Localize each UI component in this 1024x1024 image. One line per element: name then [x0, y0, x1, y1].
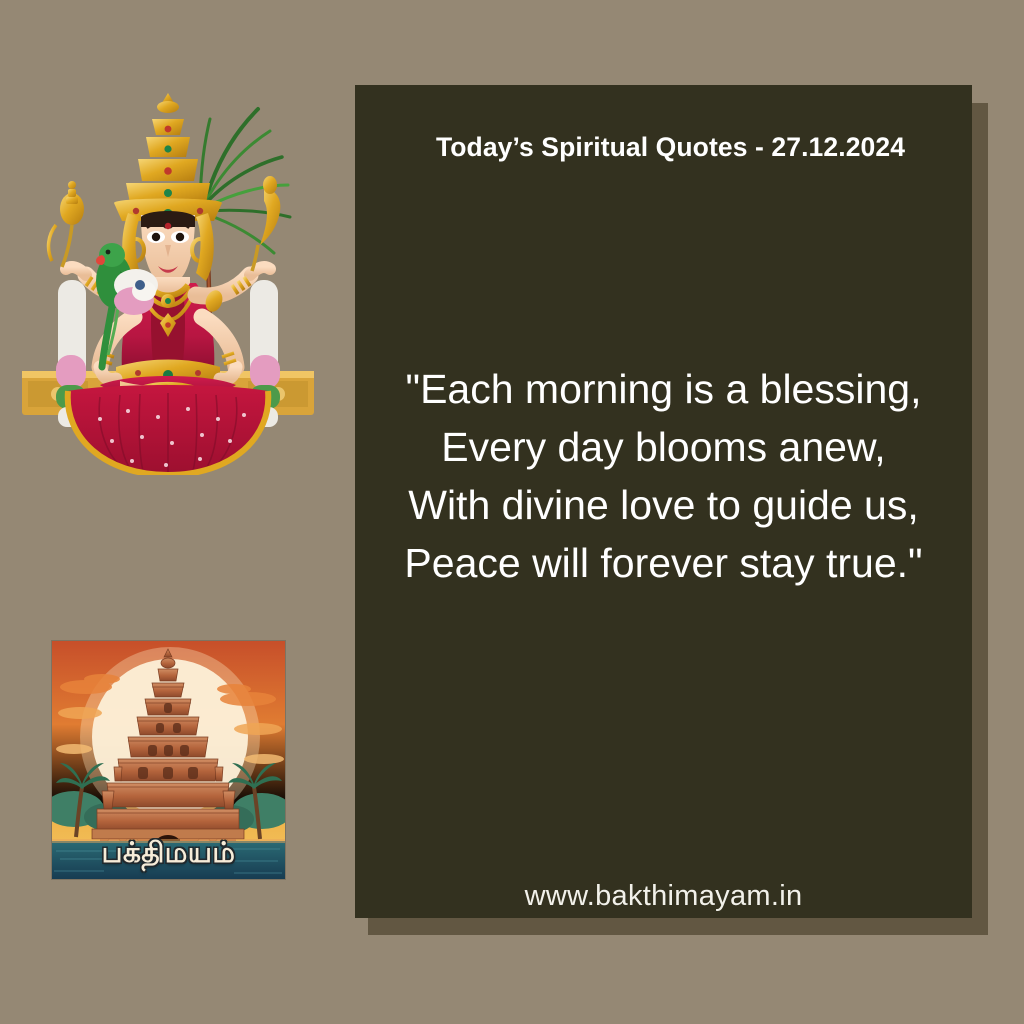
website-url[interactable]: www.bakthimayam.in [355, 880, 972, 913]
skirt [68, 385, 269, 475]
spiritual-quote-poster: பக்திமயம் Today’s Spiritual Quotes - 27.… [0, 0, 1024, 1024]
noose-pasha [49, 181, 84, 267]
quote-text: "Each morning is a blessing, Every day b… [355, 360, 972, 592]
quote-line-2: Every day blooms anew, [373, 418, 954, 476]
bakthimayam-logo[interactable]: பக்திமயம் [52, 641, 285, 879]
deity-image [8, 85, 328, 475]
quote-line-4: Peace will forever stay true." [373, 534, 954, 592]
card-title: Today’s Spiritual Quotes - 27.12.2024 [355, 132, 972, 163]
quote-line-3: With divine love to guide us, [373, 476, 954, 534]
logo-caption: பக்திமயம் [52, 839, 285, 867]
crown [114, 93, 222, 221]
quote-card: Today’s Spiritual Quotes - 27.12.2024 "E… [355, 85, 972, 918]
quote-line-1: "Each morning is a blessing, [373, 360, 954, 418]
goad-ankusha [252, 176, 280, 271]
